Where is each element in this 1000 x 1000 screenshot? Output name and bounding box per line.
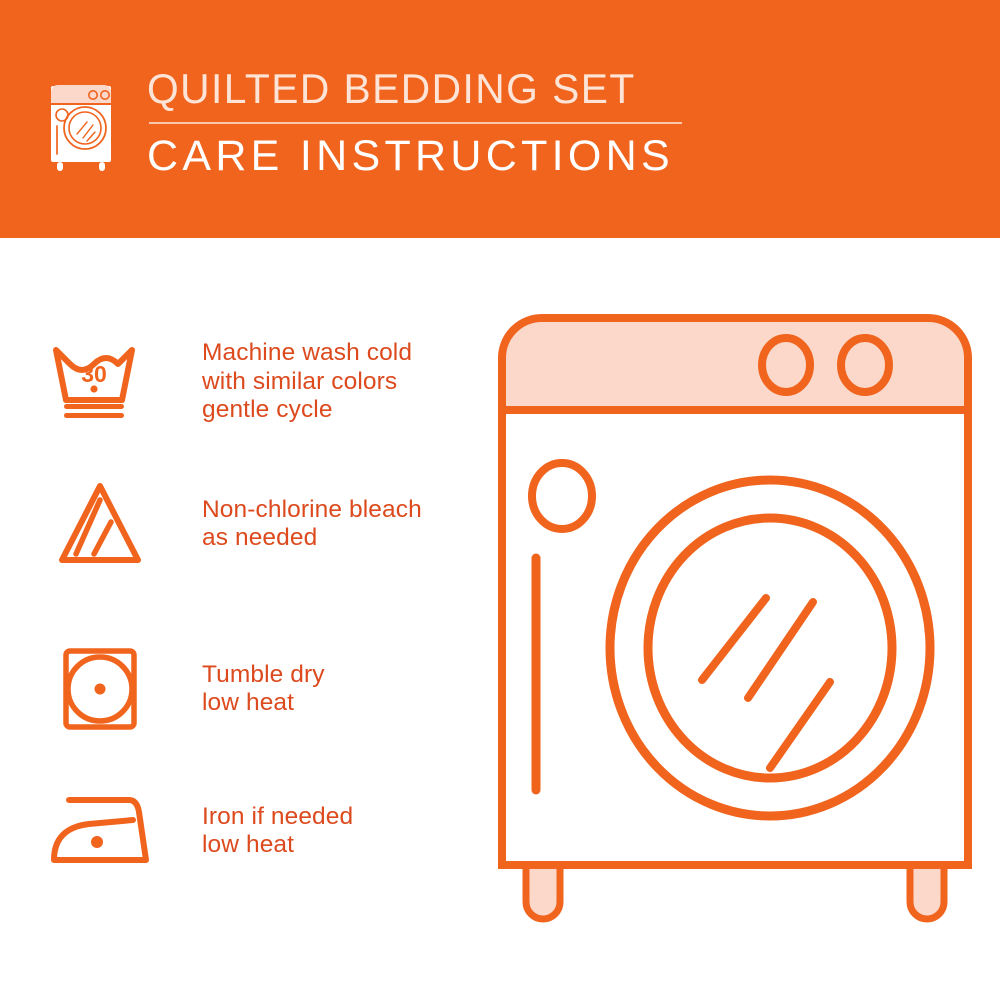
page-title: QUILTED BEDDING SET <box>147 66 666 112</box>
label-line: with similar colors <box>202 368 412 397</box>
care-instructions-list: 30 Machine wash cold with similar colors… <box>0 238 480 1000</box>
list-item: Tumble dry low heat <box>0 643 480 735</box>
tumble-dry-low-icon <box>40 643 160 735</box>
list-item-label: Machine wash cold with similar colors ge… <box>202 339 412 425</box>
label-line: Non-chlorine bleach <box>202 496 422 525</box>
iron-low-heat-icon <box>40 790 160 872</box>
label-line: Tumble dry <box>202 661 325 690</box>
list-item: Iron if needed low heat <box>0 790 480 872</box>
list-item-label: Non-chlorine bleach as needed <box>202 496 422 553</box>
knob-left <box>762 338 810 392</box>
label-line: gentle cycle <box>202 396 412 425</box>
list-item-label: Iron if needed low heat <box>202 803 353 860</box>
header-banner: QUILTED BEDDING SET CARE INSTRUCTIONS <box>0 0 1000 238</box>
wash-temperature-value: 30 <box>81 361 107 387</box>
list-item: 30 Machine wash cold with similar colors… <box>0 338 480 426</box>
list-item-label: Tumble dry low heat <box>202 661 325 718</box>
bleach-triangle-icon <box>40 478 160 570</box>
label-line: Iron if needed <box>202 803 353 832</box>
knob-right <box>841 338 889 392</box>
header-content: QUILTED BEDDING SET CARE INSTRUCTIONS <box>45 62 682 180</box>
front-load-washing-machine-illustration <box>480 300 1000 960</box>
label-line: Machine wash cold <box>202 339 412 368</box>
label-line: low heat <box>202 831 353 860</box>
washing-machine-icon <box>45 62 119 174</box>
list-item: Non-chlorine bleach as needed <box>0 478 480 570</box>
page-subtitle: CARE INSTRUCTIONS <box>147 132 682 180</box>
title-divider <box>149 122 682 124</box>
label-line: low heat <box>202 689 325 718</box>
header-title-block: QUILTED BEDDING SET CARE INSTRUCTIONS <box>147 62 682 180</box>
label-line: as needed <box>202 524 422 553</box>
detergent-dispenser-circle <box>532 463 592 529</box>
wash-tub-30-icon: 30 <box>40 338 160 426</box>
control-panel <box>502 318 968 410</box>
